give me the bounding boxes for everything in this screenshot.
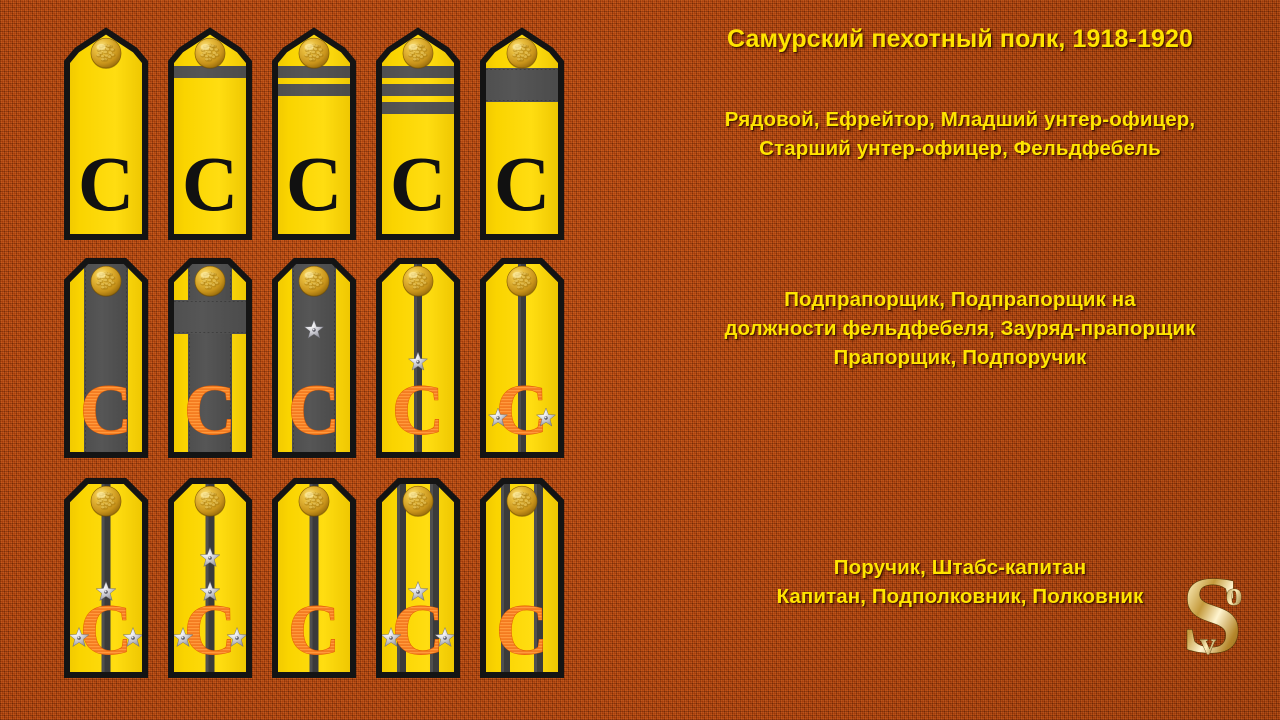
svg-text:С: С (184, 590, 236, 670)
svg-text:С: С (496, 590, 548, 670)
shoulder-board-officer-5: С (480, 478, 564, 678)
page-title: Самурский пехотный полк, 1918-1920 (660, 22, 1260, 58)
logo-sub-letter-top: o (1226, 576, 1243, 613)
slide-canvas: С С (0, 0, 1280, 720)
shoulder-board-officer-2: С (168, 478, 252, 678)
logo-sub-letter-bottom: v (1200, 625, 1216, 661)
svg-text:С: С (392, 590, 444, 670)
shoulder-board-officer-4: С (376, 478, 460, 678)
svg-text:С: С (288, 590, 340, 670)
shoulder-board-officer-1: С (64, 478, 148, 678)
shoulder-board-officer-3: С (272, 478, 356, 678)
shoulder-board-row-officers: С (0, 0, 640, 720)
svg-text:С: С (80, 590, 132, 670)
caption-row-2: Подпрапорщик, Подпрапорщик надолжности ф… (660, 285, 1260, 372)
caption-row-1: Рядовой, Ефрейтор, Младший унтер-офицер,… (660, 105, 1260, 163)
sov-logo: S o v (1158, 550, 1270, 670)
